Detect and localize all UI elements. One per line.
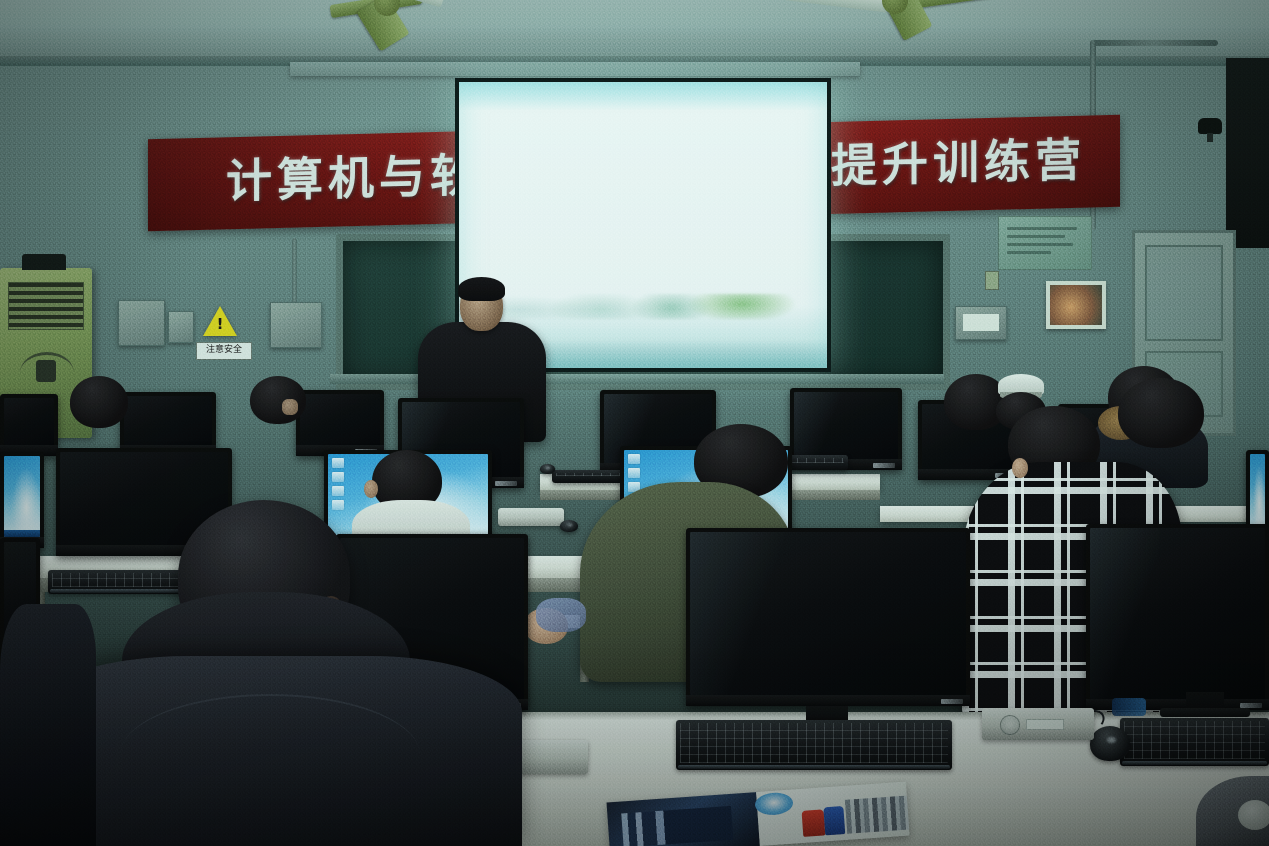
- student-hand-right-foreground: [1238, 800, 1269, 830]
- mouse-back-1[interactable]: [540, 464, 555, 474]
- wall-cabinet: [1226, 58, 1269, 248]
- student-ear-plaid: [1012, 458, 1028, 478]
- monitor-back-5: [296, 390, 384, 456]
- warning-sign-label: 注意安全: [196, 342, 252, 360]
- wall-plaque: [955, 306, 1007, 340]
- brochure-cityscape: [845, 796, 909, 834]
- framed-picture-art: [1050, 285, 1102, 325]
- monitor-front-2: [1086, 524, 1269, 710]
- keyboard-front-2[interactable]: [1120, 718, 1269, 766]
- student-head-far-right: [1118, 378, 1204, 448]
- student-sleeve-olive: [536, 598, 586, 632]
- camera-mount: [1207, 133, 1213, 142]
- cable-bundle-front: [1112, 698, 1146, 716]
- ac-grille: [8, 282, 84, 330]
- mouse-back-2[interactable]: [560, 520, 578, 532]
- student-face-back-left: [282, 399, 298, 415]
- student-ear-white-shirt: [364, 480, 378, 498]
- pc-case-front-right: [982, 708, 1094, 740]
- pc-case-back-1: [498, 508, 564, 526]
- wall-small-item: [985, 271, 999, 290]
- monitor-front-2-base: [1160, 708, 1250, 717]
- brochure-figure-red: [802, 809, 826, 836]
- ac-top-cap: [22, 254, 66, 270]
- pc-vent-icon: [1000, 715, 1020, 735]
- ceiling-soffit: [290, 62, 860, 76]
- monitor-front-1: [686, 528, 970, 706]
- monitor-lit-3: [0, 452, 44, 548]
- presenter-hair: [458, 277, 505, 301]
- brochure-left-art: [621, 806, 733, 846]
- security-camera-icon: [1198, 118, 1222, 134]
- desktop-icons-1: [332, 458, 348, 514]
- electrical-box-left: [118, 300, 165, 346]
- framed-picture: [1046, 281, 1106, 329]
- student-head-back-left-2: [250, 376, 306, 424]
- keyboard-front-1[interactable]: [676, 720, 952, 770]
- student-left-foreground: [0, 604, 96, 846]
- monitor-back-7: [120, 392, 216, 456]
- ceiling-fan-right: [778, 0, 998, 40]
- keyboard-back-2[interactable]: [552, 470, 624, 483]
- warning-exclamation: !: [203, 315, 237, 333]
- pc-front-slot: [1026, 719, 1064, 730]
- door-panel-upper: [1145, 245, 1223, 341]
- wall-conduit-left: [292, 238, 297, 304]
- warning-sign: !: [203, 306, 240, 340]
- ceiling-conduit-horizontal: [1090, 40, 1218, 46]
- electrical-box-left-small: [168, 311, 194, 343]
- ceiling-fan-left: [330, 0, 480, 42]
- monitor-back-8: [0, 394, 58, 456]
- ac-control-knob[interactable]: [36, 360, 56, 382]
- ceiling: [0, 0, 1269, 62]
- wall-poster: [998, 216, 1092, 270]
- student-head-back-left: [70, 376, 128, 428]
- student-jacket-seam: [120, 694, 420, 816]
- keyboard-middle-1[interactable]: [48, 570, 196, 594]
- brochure-figure-blue: [823, 806, 845, 835]
- classroom-photo: 计算机与软件 能力提升训练营 ! 注意安全: [0, 0, 1269, 846]
- electrical-box-mid: [270, 302, 322, 348]
